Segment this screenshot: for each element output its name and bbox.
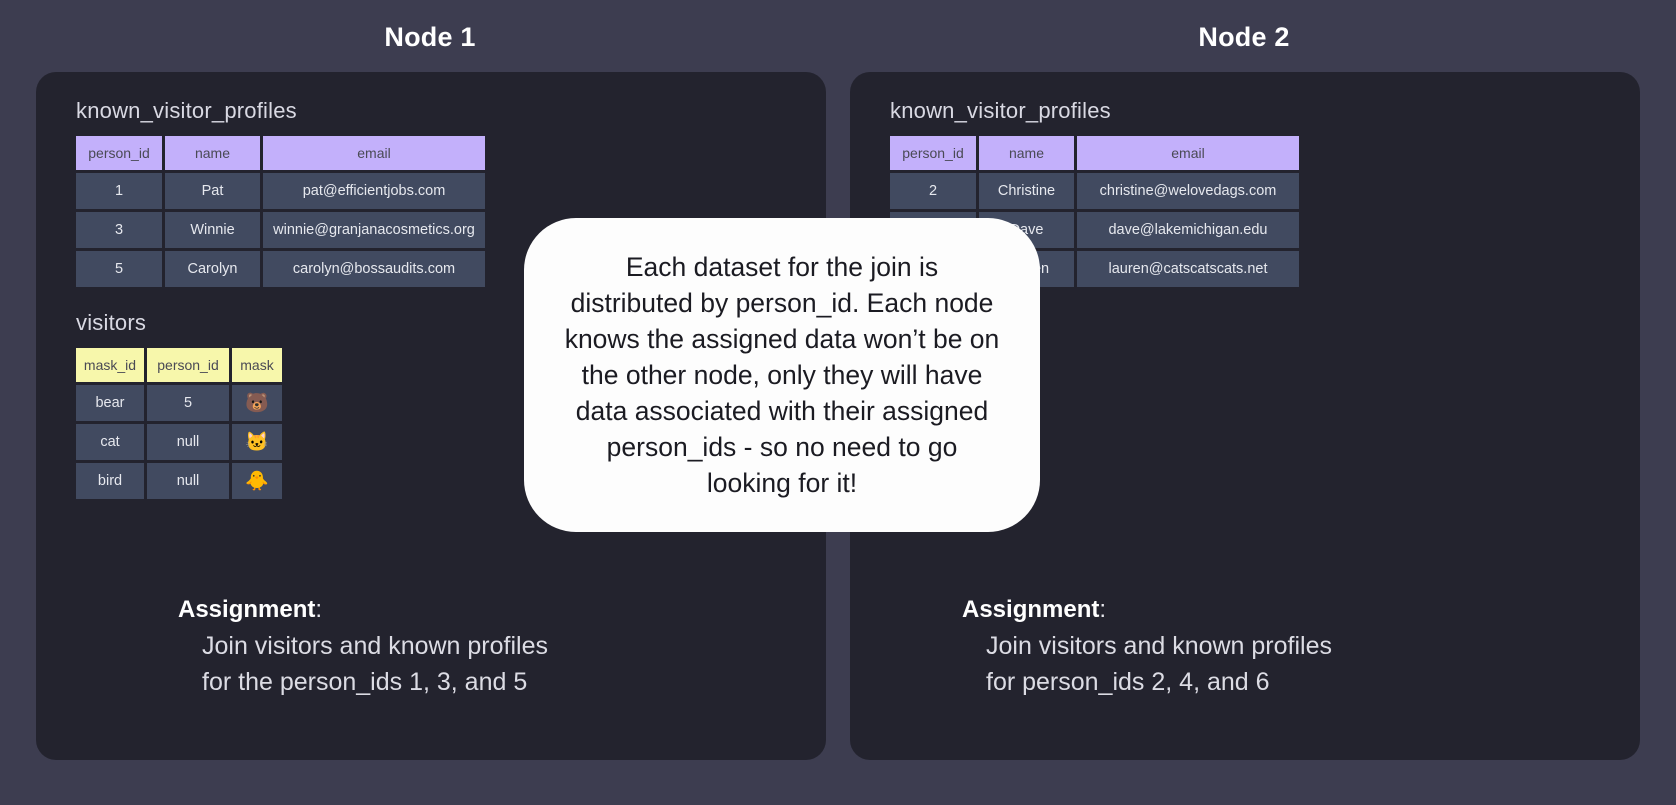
cell-email: winnie@granjanacosmetics.org — [263, 212, 485, 248]
column-header-email: email — [263, 136, 485, 170]
cell-email: dave@lakemichigan.edu — [1077, 212, 1299, 248]
cell-person-id: null — [147, 424, 229, 460]
assignment-label: Assignment — [178, 596, 315, 623]
table-row: 2 Christine christine@welovedags.com — [890, 173, 1299, 209]
table-row: 1 Pat pat@efficientjobs.com — [76, 173, 485, 209]
column-header-person-id: person_id — [147, 348, 229, 382]
table-row: 3 Winnie winnie@granjanacosmetics.org — [76, 212, 485, 248]
assignment-colon: : — [1099, 596, 1106, 623]
cell-name: Winnie — [165, 212, 260, 248]
table-row: 5 Carolyn carolyn@bossaudits.com — [76, 251, 485, 287]
node-1-title: Node 1 — [280, 22, 580, 53]
assignment-text: Join visitors and known profiles for per… — [986, 628, 1332, 701]
assignment-label: Assignment — [962, 596, 1099, 623]
cell-email: carolyn@bossaudits.com — [263, 251, 485, 287]
table-row: bird null 🐥 — [76, 463, 282, 499]
assignment-text: Join visitors and known profiles for the… — [202, 628, 548, 701]
table-row: cat null 🐱 — [76, 424, 282, 460]
assignment-line-1: Join visitors and known profiles — [986, 628, 1332, 664]
cell-mask-emoji-bear: 🐻 — [232, 385, 282, 421]
cell-mask-id: bear — [76, 385, 144, 421]
cell-person-id: 5 — [76, 251, 162, 287]
cell-person-id: 2 — [890, 173, 976, 209]
node-1-profiles-table: person_id name email 1 Pat pat@efficient… — [73, 133, 488, 290]
cell-person-id: 5 — [147, 385, 229, 421]
cell-name: Pat — [165, 173, 260, 209]
cell-mask-emoji-cat: 🐱 — [232, 424, 282, 460]
cell-name: Christine — [979, 173, 1074, 209]
cell-person-id: 3 — [76, 212, 162, 248]
column-header-email: email — [1077, 136, 1299, 170]
cell-email: pat@efficientjobs.com — [263, 173, 485, 209]
assignment-line-1: Join visitors and known profiles — [202, 628, 548, 664]
node-2-assignment: Assignment: Join visitors and known prof… — [962, 596, 1332, 701]
cell-email: christine@welovedags.com — [1077, 173, 1299, 209]
column-header-mask-id: mask_id — [76, 348, 144, 382]
callout-text: Each dataset for the join is distributed… — [562, 249, 1002, 501]
slide-canvas: Node 1 Node 2 known_visitor_profiles per… — [0, 0, 1676, 805]
table-header-row: person_id name email — [76, 136, 485, 170]
cell-mask-id: bird — [76, 463, 144, 499]
node-1-profiles-caption: known_visitor_profiles — [76, 98, 786, 124]
cell-person-id: 1 — [76, 173, 162, 209]
cell-name: Carolyn — [165, 251, 260, 287]
assignment-heading: Assignment: — [962, 596, 1332, 624]
node-2-title: Node 2 — [1094, 22, 1394, 53]
column-header-name: name — [165, 136, 260, 170]
node-2-profiles-caption: known_visitor_profiles — [890, 98, 1600, 124]
cell-person-id: null — [147, 463, 229, 499]
cell-mask-id: cat — [76, 424, 144, 460]
assignment-heading: Assignment: — [178, 596, 548, 624]
assignment-colon: : — [315, 596, 322, 623]
assignment-line-2: for the person_ids 1, 3, and 5 — [202, 664, 548, 700]
explanation-callout: Each dataset for the join is distributed… — [524, 218, 1040, 532]
cell-mask-emoji-bird: 🐥 — [232, 463, 282, 499]
column-header-person-id: person_id — [890, 136, 976, 170]
column-header-mask: mask — [232, 348, 282, 382]
node-1-visitors-table: mask_id person_id mask bear 5 🐻 cat null — [73, 345, 285, 502]
assignment-line-2: for person_ids 2, 4, and 6 — [986, 664, 1332, 700]
cell-email: lauren@catscatscats.net — [1077, 251, 1299, 287]
table-header-row: mask_id person_id mask — [76, 348, 282, 382]
column-header-person-id: person_id — [76, 136, 162, 170]
table-header-row: person_id name email — [890, 136, 1299, 170]
column-header-name: name — [979, 136, 1074, 170]
node-1-assignment: Assignment: Join visitors and known prof… — [178, 596, 548, 701]
table-row: bear 5 🐻 — [76, 385, 282, 421]
